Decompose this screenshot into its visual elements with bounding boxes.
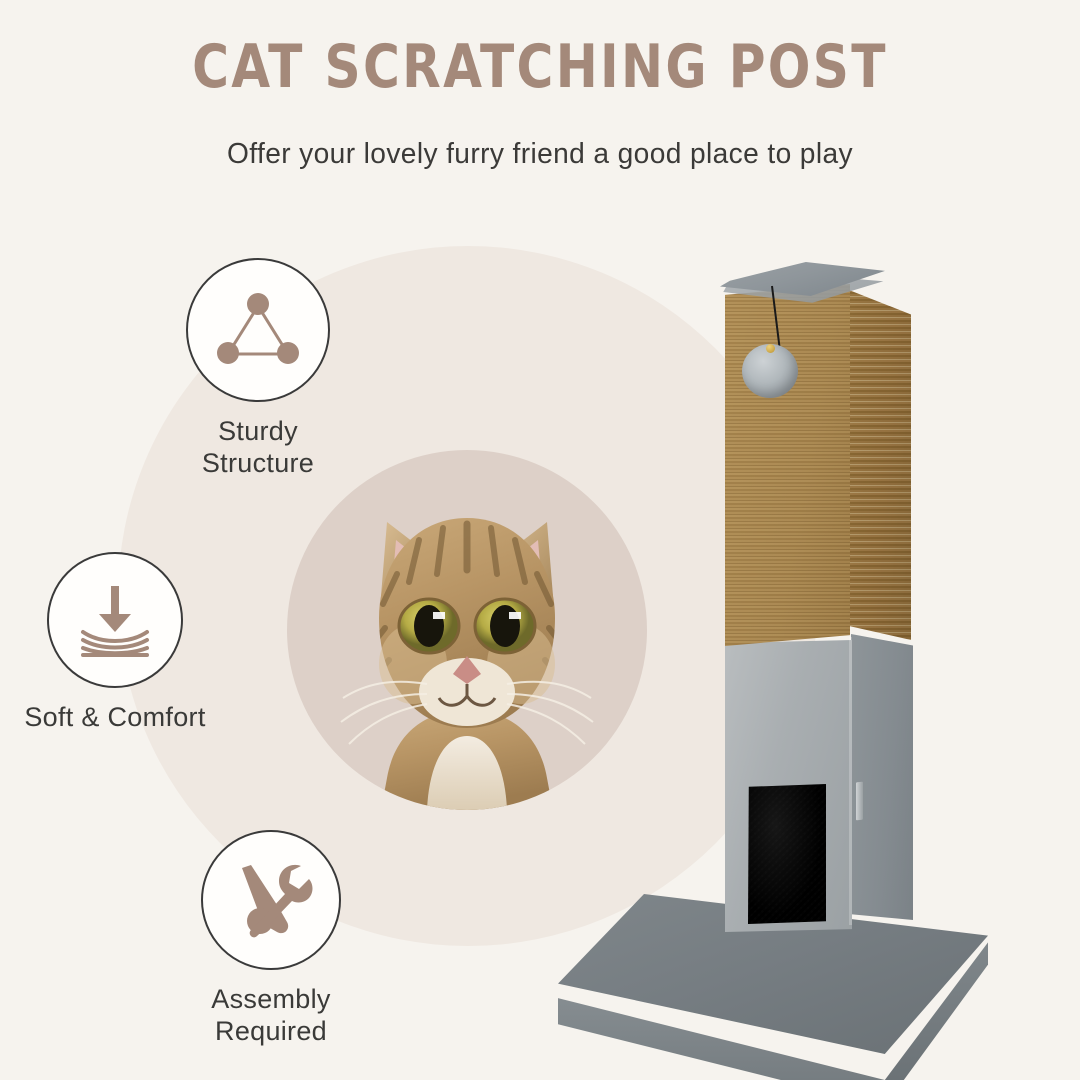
sturdy-structure-badge[interactable] xyxy=(186,258,330,402)
assembly-required-badge[interactable] xyxy=(201,830,341,970)
column-seam xyxy=(849,637,852,925)
sisal-post-front xyxy=(725,284,850,646)
feature-sturdy-structure[interactable]: Sturdy Structure xyxy=(186,258,330,480)
sisal-post-side xyxy=(849,290,911,640)
gold-bead xyxy=(766,344,775,353)
feature-label: Soft & Comfort xyxy=(7,702,223,734)
column-plush-side xyxy=(851,634,913,920)
cushion-arrow-icon xyxy=(71,578,159,662)
grooming-brush-panel xyxy=(748,784,826,924)
feature-label: Sturdy Structure xyxy=(186,416,330,480)
feature-soft-comfort[interactable]: Soft & Comfort xyxy=(47,552,183,734)
triangle-nodes-icon xyxy=(212,290,304,370)
product-image xyxy=(520,262,990,1062)
screwdriver-wrench-icon xyxy=(227,856,315,944)
metal-clip xyxy=(856,782,863,821)
infographic-canvas: CAT SCRATCHING POST Offer your lovely fu… xyxy=(0,0,1080,1080)
soft-comfort-badge[interactable] xyxy=(47,552,183,688)
page-title: CAT SCRATCHING POST xyxy=(38,32,1042,102)
page-subtitle: Offer your lovely furry friend a good pl… xyxy=(16,138,1064,171)
feature-label: Assembly Required xyxy=(201,984,341,1048)
feature-assembly-required[interactable]: Assembly Required xyxy=(201,830,341,1048)
